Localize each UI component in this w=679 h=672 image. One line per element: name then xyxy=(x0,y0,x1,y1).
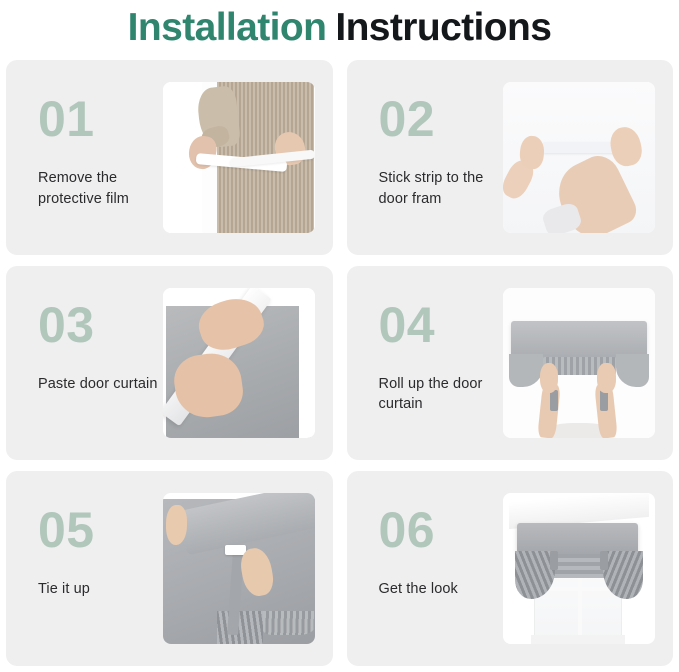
step-card-05: 05 Tie it up xyxy=(6,471,333,666)
photo-tie-it-up xyxy=(163,493,315,644)
step-card-06: 06 Get the look xyxy=(347,471,674,666)
step-label-01: Remove the protective film xyxy=(38,168,163,209)
step-label-05: Tie it up xyxy=(38,579,163,600)
page-title-highlight: Installation xyxy=(128,6,327,49)
steps-grid: 01 Remove the protective film xyxy=(6,60,673,666)
step-card-03-text: 03 Paste door curtain xyxy=(6,266,163,461)
step-label-03: Paste door curtain xyxy=(38,374,163,395)
step-number-04: 04 xyxy=(379,300,504,350)
photo-remove-protective-film xyxy=(163,82,315,233)
step-card-02-text: 02 Stick strip to the door fram xyxy=(347,60,504,255)
photo-roll-up-door-curtain xyxy=(503,288,655,439)
photo-stick-strip-to-door-frame xyxy=(503,82,655,233)
step-card-06-text: 06 Get the look xyxy=(347,471,504,666)
step-label-04: Roll up the door curtain xyxy=(379,374,504,415)
step-number-06: 06 xyxy=(379,505,504,555)
step-label-02: Stick strip to the door fram xyxy=(379,168,504,209)
photo-paste-door-curtain xyxy=(163,288,315,439)
photo-get-the-look xyxy=(503,493,655,644)
step-number-05: 05 xyxy=(38,505,163,555)
page-title: InstallationInstructions xyxy=(128,8,552,47)
step-card-01: 01 Remove the protective film xyxy=(6,60,333,255)
step-card-01-text: 01 Remove the protective film xyxy=(6,60,163,255)
step-number-02: 02 xyxy=(379,94,504,144)
installation-instructions-page: InstallationInstructions 01 Remove the p… xyxy=(0,0,679,672)
step-card-05-text: 05 Tie it up xyxy=(6,471,163,666)
step-card-04: 04 Roll up the door curtain xyxy=(347,266,674,461)
step-label-06: Get the look xyxy=(379,579,504,600)
step-card-03: 03 Paste door curtain xyxy=(6,266,333,461)
step-card-02: 02 Stick strip to the door fram xyxy=(347,60,674,255)
step-number-03: 03 xyxy=(38,300,163,350)
step-card-04-text: 04 Roll up the door curtain xyxy=(347,266,504,461)
page-title-rest: Instructions xyxy=(335,6,551,49)
step-number-01: 01 xyxy=(38,94,163,144)
page-header: InstallationInstructions xyxy=(0,0,679,52)
